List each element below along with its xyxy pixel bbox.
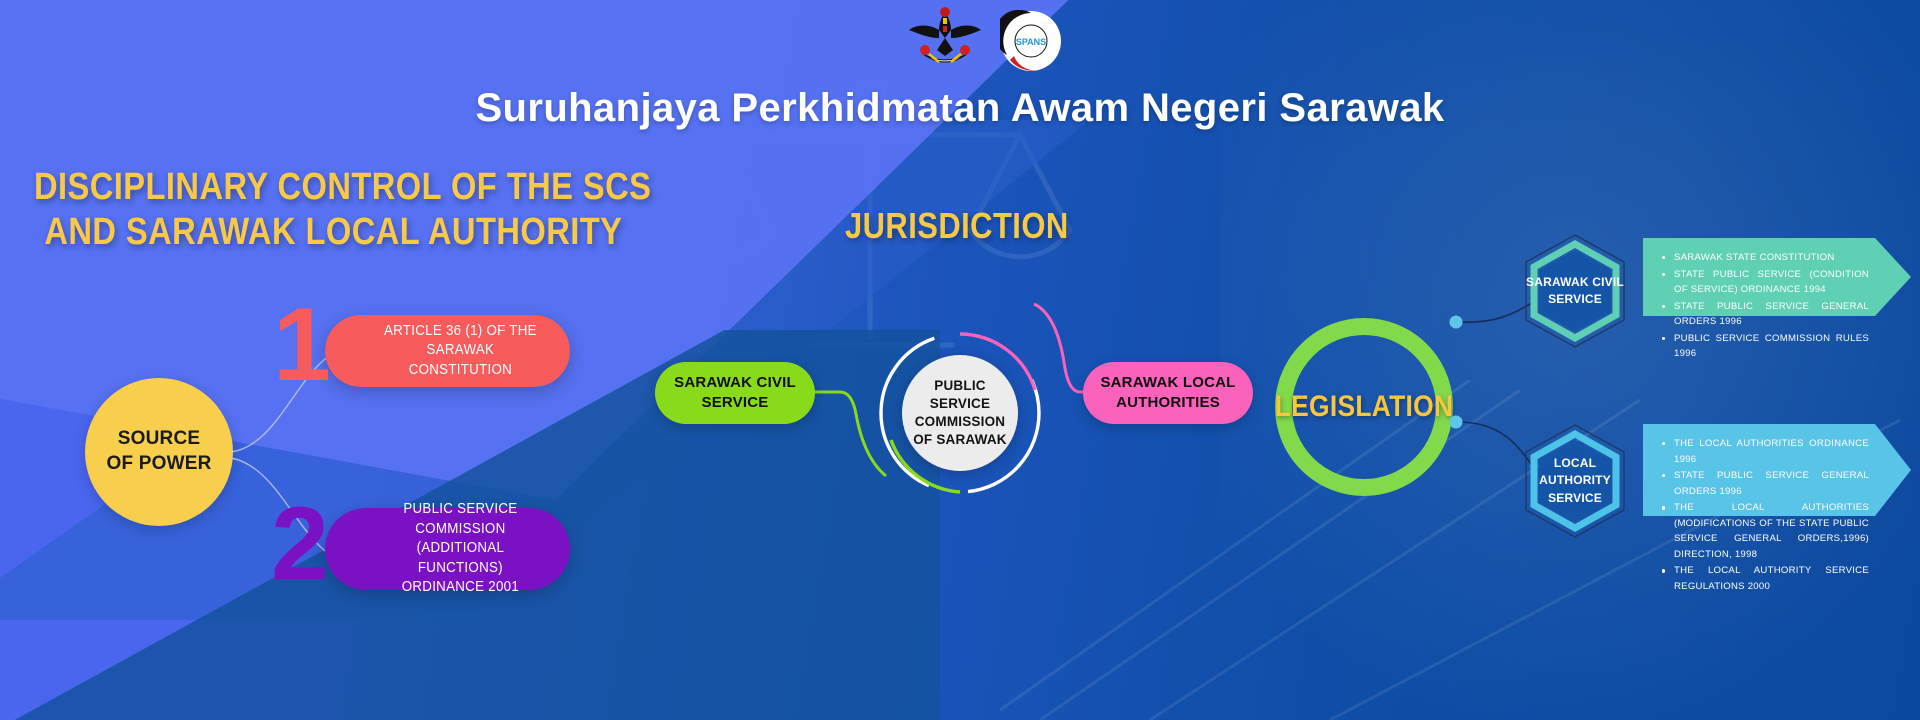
list-item: SARAWAK STATE CONSTITUTION bbox=[1661, 250, 1869, 266]
list-item: STATE PUBLIC SERVICE GENERAL ORDERS 1996 bbox=[1661, 299, 1869, 330]
list-item: THE LOCAL AUTHORITY SERVICE REGULATIONS … bbox=[1661, 563, 1869, 594]
list-item: STATE PUBLIC SERVICE GENERAL ORDERS 1996 bbox=[1661, 468, 1869, 499]
list-item: THE LOCAL AUTHORITIES (MODIFICATIONS OF … bbox=[1661, 500, 1869, 562]
spans-logo-icon: SPANS bbox=[1000, 10, 1062, 72]
section-heading-disciplinary: DISCIPLINARY CONTROL OF THE SCS AND SARA… bbox=[34, 165, 584, 255]
source-of-power-node[interactable]: SOURCE OF POWER bbox=[85, 378, 233, 526]
source-item-psc-ordinance[interactable]: 2 PUBLIC SERVICE COMMISSION (ADDITIONAL … bbox=[325, 508, 570, 590]
legislation-list-local-authority: THE LOCAL AUTHORITIES ORDINANCE 1996 STA… bbox=[1643, 424, 1911, 516]
source-item-text-2: PUBLIC SERVICE COMMISSION (ADDITIONAL FU… bbox=[335, 500, 560, 598]
source-item-text-1: ARTICLE 36 (1) OF THE SARAWAK CONSTITUTI… bbox=[335, 322, 560, 381]
legislation-title[interactable]: LEGISLATION bbox=[1286, 318, 1443, 496]
source-of-power-label-1: SOURCE bbox=[118, 427, 201, 452]
heading-line-2: AND SARAWAK LOCAL AUTHORITY bbox=[44, 210, 584, 255]
section-heading-jurisdiction: JURISDICTION bbox=[845, 205, 1069, 247]
heading-line-1: DISCIPLINARY CONTROL OF THE SCS bbox=[34, 165, 584, 210]
jurisdiction-center-label: PUBLIC SERVICE COMMISSION OF SARAWAK bbox=[902, 355, 1018, 471]
source-item-number-2: 2 bbox=[271, 492, 325, 596]
legislation-hex-civil-service[interactable]: SARAWAK CIVIL SERVICE bbox=[1520, 232, 1630, 350]
source-item-number-1: 1 bbox=[273, 293, 327, 397]
jurisdiction-center-node[interactable]: PUBLIC SERVICE COMMISSION OF SARAWAK bbox=[875, 328, 1045, 498]
legislation-hex-local-authority-label: LOCAL AUTHORITY SERVICE bbox=[1520, 422, 1630, 540]
jurisdiction-branch-local-authorities[interactable]: SARAWAK LOCAL AUTHORITIES bbox=[1083, 362, 1253, 424]
legislation-items-civil-service: SARAWAK STATE CONSTITUTION STATE PUBLIC … bbox=[1661, 250, 1869, 362]
legislation-hex-local-authority[interactable]: LOCAL AUTHORITY SERVICE bbox=[1520, 422, 1630, 540]
infographic-canvas: SPANS Suruhanjaya Perkhidmatan Awam Nege… bbox=[0, 0, 1920, 720]
source-item-article-36[interactable]: 1 ARTICLE 36 (1) OF THE SARAWAK CONSTITU… bbox=[325, 315, 570, 387]
list-item: THE LOCAL AUTHORITIES ORDINANCE 1996 bbox=[1661, 436, 1869, 467]
list-item: STATE PUBLIC SERVICE (CONDITION OF SERVI… bbox=[1661, 267, 1869, 298]
jurisdiction-branch-civil-service[interactable]: SARAWAK CIVIL SERVICE bbox=[655, 362, 815, 424]
page-title: Suruhanjaya Perkhidmatan Awam Negeri Sar… bbox=[0, 86, 1920, 131]
sarawak-state-crest-icon bbox=[905, 4, 985, 74]
source-of-power-label-2: OF POWER bbox=[106, 452, 211, 477]
legislation-items-local-authority: THE LOCAL AUTHORITIES ORDINANCE 1996 STA… bbox=[1661, 436, 1869, 594]
list-item: PUBLIC SERVICE COMMISSION RULES 1996 bbox=[1661, 331, 1869, 362]
legislation-list-civil-service: SARAWAK STATE CONSTITUTION STATE PUBLIC … bbox=[1643, 238, 1911, 316]
legislation-hex-civil-service-label: SARAWAK CIVIL SERVICE bbox=[1520, 232, 1630, 350]
spans-logo-text: SPANS bbox=[1016, 37, 1046, 47]
